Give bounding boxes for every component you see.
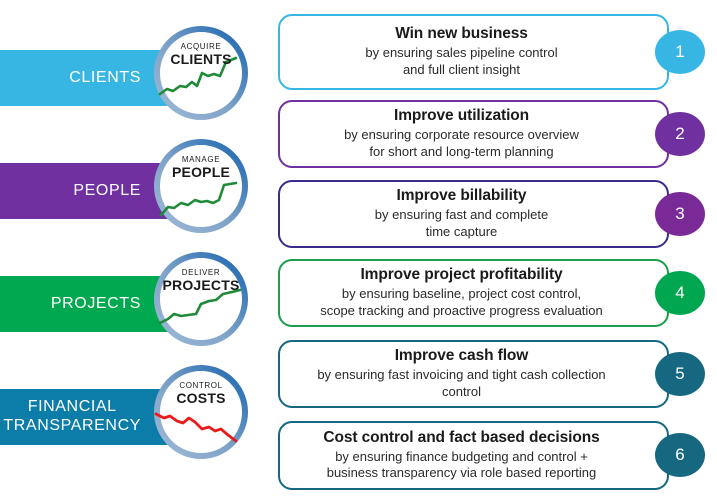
goal-subtitle-2: by ensuring corporate resource overview … bbox=[344, 127, 579, 160]
goal-badge-number-4: 4 bbox=[675, 283, 684, 303]
acquire-clients-trend-up-icon bbox=[152, 24, 250, 122]
pillar-circle-projects[interactable]: DELIVER PROJECTS bbox=[152, 250, 250, 348]
goal-box-2[interactable]: Improve utilization by ensuring corporat… bbox=[278, 100, 669, 168]
pillar-circle-people[interactable]: MANAGE PEOPLE bbox=[152, 137, 250, 235]
goal-subtitle-3: by ensuring fast and complete time captu… bbox=[375, 207, 548, 240]
goal-badge-4[interactable]: 4 bbox=[655, 271, 705, 315]
goal-badge-number-3: 3 bbox=[675, 204, 684, 224]
pillar-circle-financial[interactable]: CONTROL COSTS bbox=[152, 363, 250, 461]
goal-title-4: Improve project profitability bbox=[360, 266, 562, 285]
deliver-projects-trend-up-icon bbox=[152, 250, 250, 348]
pillar-label-financial-transparency: FINANCIAL TRANSPARENCY bbox=[3, 398, 141, 436]
goal-box-1[interactable]: Win new business by ensuring sales pipel… bbox=[278, 14, 669, 90]
goal-badge-number-5: 5 bbox=[675, 364, 684, 384]
goal-title-2: Improve utilization bbox=[394, 107, 529, 126]
goal-badge-3[interactable]: 3 bbox=[655, 192, 705, 236]
goal-badge-number-1: 1 bbox=[675, 42, 684, 62]
goal-badge-2[interactable]: 2 bbox=[655, 112, 705, 156]
pillar-label-people: PEOPLE bbox=[73, 182, 141, 201]
goal-title-1: Win new business bbox=[395, 25, 528, 44]
goal-badge-number-6: 6 bbox=[675, 445, 684, 465]
goal-subtitle-4: by ensuring baseline, project cost contr… bbox=[320, 286, 603, 319]
pillar-label-clients: CLIENTS bbox=[69, 69, 141, 88]
goal-box-4[interactable]: Improve project profitability by ensurin… bbox=[278, 259, 669, 327]
goal-badge-6[interactable]: 6 bbox=[655, 433, 705, 477]
manage-people-trend-up-icon bbox=[152, 137, 250, 235]
goal-badge-number-2: 2 bbox=[675, 124, 684, 144]
goal-box-6[interactable]: Cost control and fact based decisions by… bbox=[278, 421, 669, 490]
pillar-circle-clients[interactable]: ACQUIRE CLIENTS bbox=[152, 24, 250, 122]
pillar-label-projects: PROJECTS bbox=[51, 295, 141, 314]
goal-badge-1[interactable]: 1 bbox=[655, 30, 705, 74]
control-costs-trend-down-icon bbox=[152, 363, 250, 461]
goal-subtitle-1: by ensuring sales pipeline control and f… bbox=[365, 45, 557, 78]
goal-subtitle-5: by ensuring fast invoicing and tight cas… bbox=[317, 367, 605, 400]
goal-title-5: Improve cash flow bbox=[395, 347, 529, 366]
goal-title-6: Cost control and fact based decisions bbox=[323, 429, 599, 448]
goal-box-5[interactable]: Improve cash flow by ensuring fast invoi… bbox=[278, 340, 669, 408]
goal-badge-5[interactable]: 5 bbox=[655, 352, 705, 396]
goal-title-3: Improve billability bbox=[397, 187, 527, 206]
goal-subtitle-6: by ensuring finance budgeting and contro… bbox=[327, 449, 597, 482]
goal-box-3[interactable]: Improve billability by ensuring fast and… bbox=[278, 180, 669, 248]
